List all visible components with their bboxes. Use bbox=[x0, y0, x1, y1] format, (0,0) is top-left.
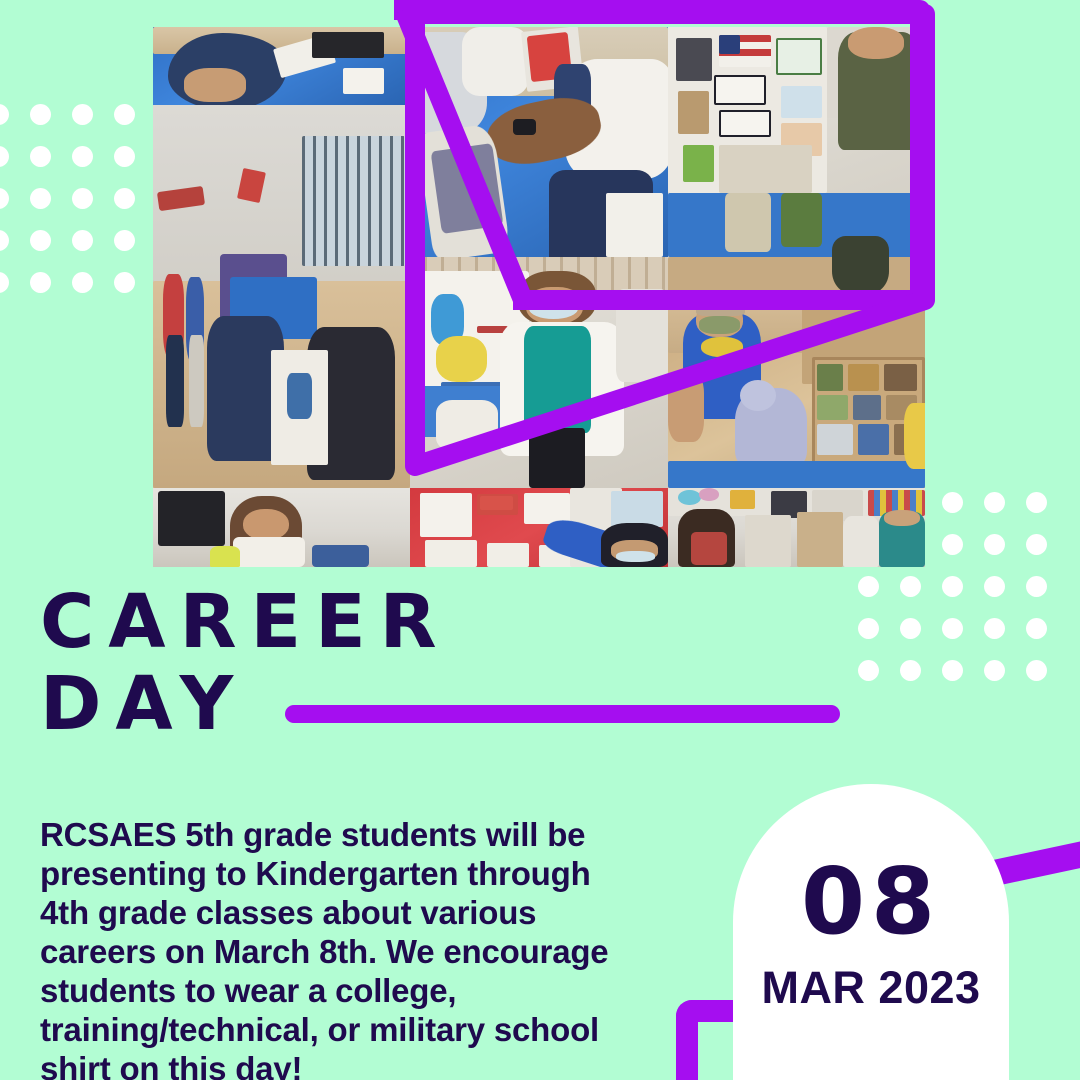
dot bbox=[858, 576, 879, 597]
dot bbox=[72, 230, 93, 251]
collage-column-3 bbox=[668, 27, 925, 567]
photo-student-in-lab-coat bbox=[410, 257, 668, 488]
dot bbox=[114, 146, 135, 167]
dot bbox=[114, 230, 135, 251]
collage-column-2 bbox=[410, 27, 668, 567]
dot bbox=[942, 660, 963, 681]
dot bbox=[0, 104, 9, 125]
photo-collage bbox=[153, 27, 925, 567]
dot bbox=[72, 104, 93, 125]
career-day-poster: CAREER DAY RCSAES 5th grade students wil… bbox=[0, 0, 1080, 1080]
dot bbox=[942, 576, 963, 597]
dot bbox=[1026, 618, 1047, 639]
headline-line-1: CAREER bbox=[40, 578, 451, 666]
dot bbox=[0, 272, 9, 293]
dot bbox=[0, 188, 9, 209]
photo-hands-on-demonstration bbox=[410, 27, 668, 257]
headline-line-2: DAY bbox=[40, 660, 451, 748]
dot bbox=[984, 660, 1005, 681]
body-copy: RCSAES 5th grade students will be presen… bbox=[40, 815, 648, 1080]
dot bbox=[858, 618, 879, 639]
photo-army-display-board bbox=[668, 27, 925, 295]
photo-students-viewing-displays bbox=[668, 488, 925, 567]
dot bbox=[900, 576, 921, 597]
dot bbox=[30, 272, 51, 293]
dot bbox=[30, 104, 51, 125]
date-month-year: MAR 2023 bbox=[761, 964, 980, 1012]
dot bbox=[942, 534, 963, 555]
dot bbox=[984, 618, 1005, 639]
dot bbox=[858, 660, 879, 681]
date-day: 08 bbox=[801, 856, 941, 948]
dot bbox=[30, 146, 51, 167]
photo-veterinary-display bbox=[668, 295, 925, 488]
dot bbox=[0, 146, 9, 167]
dot bbox=[942, 618, 963, 639]
dot bbox=[72, 188, 93, 209]
dot-grid-left bbox=[0, 104, 156, 314]
dot bbox=[984, 534, 1005, 555]
dot bbox=[114, 188, 135, 209]
date-badge: 08 MAR 2023 bbox=[733, 784, 1009, 1080]
dot bbox=[30, 230, 51, 251]
dot bbox=[984, 492, 1005, 513]
photo-student-portrait-classroom bbox=[153, 488, 410, 567]
dot bbox=[984, 576, 1005, 597]
photo-student-writing-at-table bbox=[153, 27, 410, 105]
dot bbox=[1026, 660, 1047, 681]
dot bbox=[900, 618, 921, 639]
dot bbox=[114, 104, 135, 125]
photo-gymnasium-career-fair bbox=[153, 105, 410, 488]
dot bbox=[942, 492, 963, 513]
dot bbox=[30, 188, 51, 209]
photo-red-bulletin-board-presentation bbox=[410, 488, 668, 567]
dot bbox=[72, 272, 93, 293]
dot bbox=[1026, 492, 1047, 513]
dot bbox=[1026, 534, 1047, 555]
dot bbox=[1026, 576, 1047, 597]
title-underline-bar bbox=[285, 705, 840, 723]
dot bbox=[0, 230, 9, 251]
dot bbox=[114, 272, 135, 293]
dot bbox=[72, 146, 93, 167]
collage-column-1 bbox=[153, 27, 410, 567]
dot bbox=[900, 660, 921, 681]
